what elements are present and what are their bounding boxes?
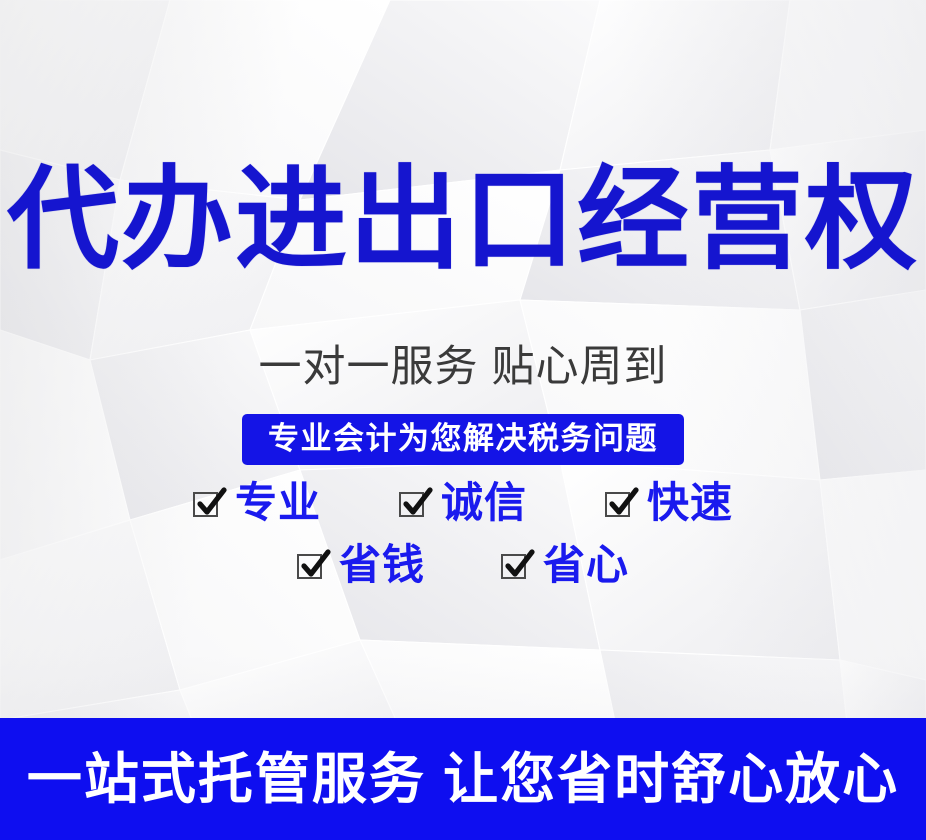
checklist-item-label: 专业 xyxy=(235,482,321,524)
bottom-banner: 一站式托管服务 让您省时舒心放心 xyxy=(0,718,926,840)
subtitle: 一对一服务 贴心周到 xyxy=(0,343,926,392)
checklist-item: 省心 xyxy=(501,544,629,586)
feature-checklist: 专业 诚信 快速 xyxy=(0,482,926,586)
checklist-item: 快速 xyxy=(605,482,733,524)
pill-banner-wrap: 专业会计为您解决税务问题 xyxy=(0,414,926,465)
page-title: 代办进出口经营权 xyxy=(0,160,926,281)
checklist-item: 诚信 xyxy=(399,482,527,524)
promo-poster: 代办进出口经营权 一对一服务 贴心周到 专业会计为您解决税务问题 专业 xyxy=(0,0,926,840)
checkbox-checked-icon xyxy=(297,550,328,581)
checkbox-checked-icon xyxy=(193,488,224,519)
checkbox-checked-icon xyxy=(399,488,430,519)
checkbox-checked-icon xyxy=(605,488,636,519)
checklist-item: 专业 xyxy=(193,482,321,524)
bottom-banner-text: 一站式托管服务 让您省时舒心放心 xyxy=(27,752,899,807)
checklist-item-label: 省钱 xyxy=(339,544,425,586)
pill-banner: 专业会计为您解决税务问题 xyxy=(242,414,684,465)
checklist-item: 省钱 xyxy=(297,544,425,586)
checklist-item-label: 快速 xyxy=(647,482,733,524)
checklist-item-label: 省心 xyxy=(543,544,629,586)
checkbox-checked-icon xyxy=(501,550,532,581)
checklist-row-1: 专业 诚信 快速 xyxy=(0,482,926,524)
checklist-row-2: 省钱 省心 xyxy=(0,544,926,586)
checklist-item-label: 诚信 xyxy=(441,482,527,524)
